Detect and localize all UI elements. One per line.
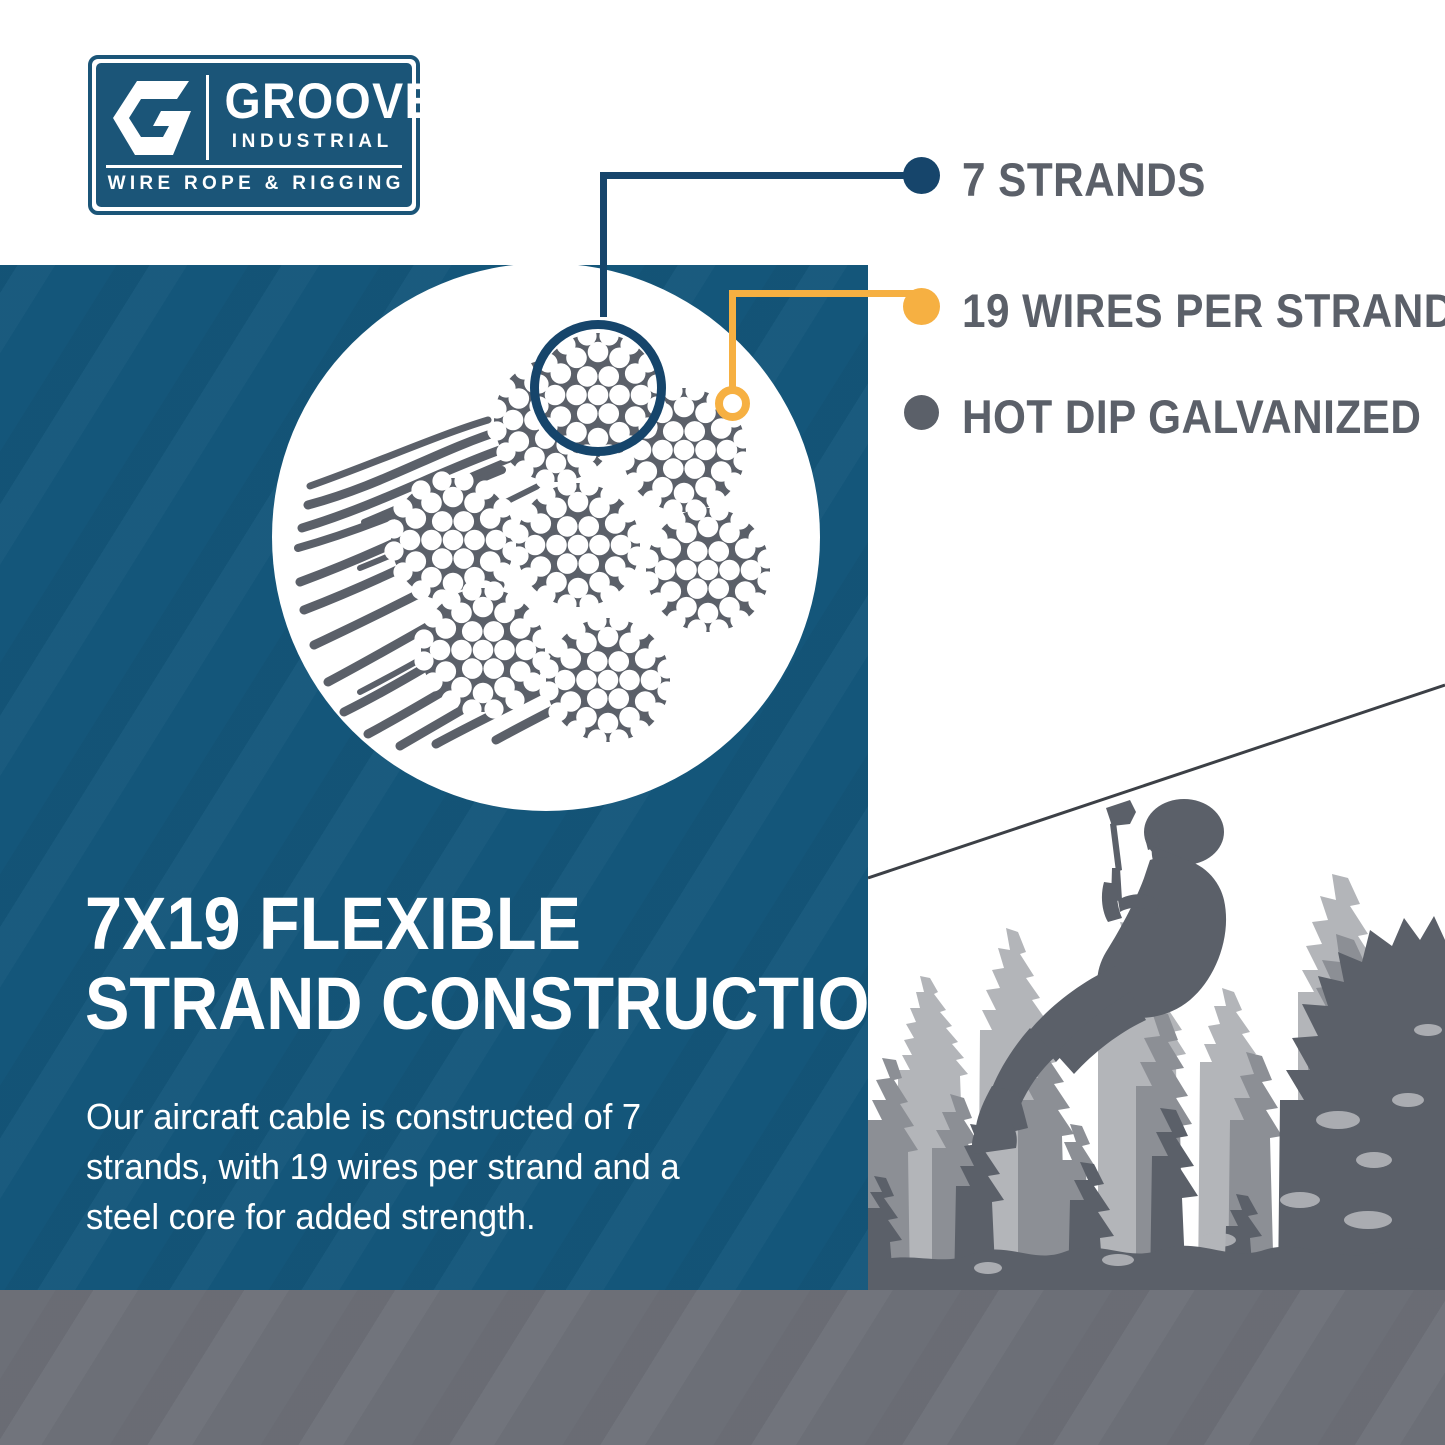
infographic-canvas: 7 STRANDS 19 WIRES PER STRAND HOT DIP GA… xyxy=(0,0,1445,1445)
logo-vertical-divider xyxy=(206,75,209,160)
logo-brand-name: GROOVE xyxy=(224,76,395,126)
logo-brand-subtitle: INDUSTRIAL xyxy=(218,131,402,153)
magnifier-ring-icon xyxy=(530,320,666,456)
callout-label-galvanized: HOT DIP GALVANIZED xyxy=(962,389,1421,444)
connector-line-strands-horizontal xyxy=(600,172,922,179)
logo-tagline: WIRE ROPE & RIGGING xyxy=(96,173,412,195)
callout-label-wires: 19 WIRES PER STRAND xyxy=(962,283,1445,338)
logo-wordmark-cell: GROOVE INDUSTRIAL xyxy=(218,71,402,164)
logo-inner-fill: GROOVE INDUSTRIAL WIRE ROPE & RIGGING xyxy=(96,63,412,207)
callout-label-strands: 7 STRANDS xyxy=(962,152,1206,207)
zipline-scene-illustration xyxy=(868,600,1445,1290)
callout-marker-strands xyxy=(903,157,940,194)
callout-marker-galvanized xyxy=(904,395,939,430)
brand-logo[interactable]: GROOVE INDUSTRIAL WIRE ROPE & RIGGING xyxy=(88,55,420,215)
logo-mark-cell xyxy=(104,71,204,164)
bottom-band xyxy=(0,1290,1445,1445)
body-copy: Our aircraft cable is constructed of 7 s… xyxy=(86,1092,720,1242)
callout-marker-wires xyxy=(903,288,940,325)
logo-horizontal-divider xyxy=(106,165,402,168)
hexagon-g-icon xyxy=(111,79,197,157)
connector-line-wires-horizontal xyxy=(729,290,923,297)
bottom-band-stripe-texture xyxy=(0,1290,1445,1445)
page-title-line-1: 7X19 FLEXIBLE xyxy=(85,884,778,964)
page-title: 7X19 FLEXIBLE STRAND CONSTRUCTION xyxy=(85,884,778,1044)
wire-highlight-ring-icon xyxy=(715,386,750,421)
connector-line-strands-vertical xyxy=(600,172,607,317)
page-title-line-2: STRAND CONSTRUCTION xyxy=(85,964,778,1044)
